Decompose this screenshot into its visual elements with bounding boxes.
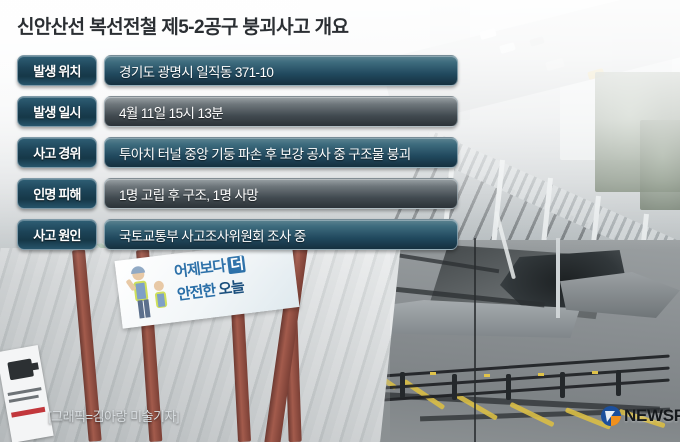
table-row: 발생 일시 4월 11일 15시 13분 [0, 96, 680, 137]
row-value-box: 투아치 터널 중앙 기둥 파손 후 보강 공사 중 구조물 붕괴 [104, 137, 458, 168]
table-row: 인명 피해 1명 고립 후 구조, 1명 사망 [0, 178, 680, 219]
worker-illustration [123, 260, 175, 321]
cctv-camera-icon [7, 358, 34, 380]
row-label-box: 인명 피해 [17, 178, 97, 209]
row-label: 인명 피해 [33, 184, 80, 203]
newspim-mark-icon [601, 406, 621, 426]
row-value: 투아치 터널 중앙 기둥 파손 후 보강 공사 중 구조물 붕괴 [105, 143, 411, 163]
guardrail-post [506, 374, 511, 400]
row-label-box: 사고 경위 [17, 137, 97, 168]
row-label: 사고 원인 [33, 225, 80, 244]
newspim-wordmark: NEWSPIM [624, 406, 680, 426]
guardrail-reflector [538, 373, 544, 376]
table-row: 사고 원인 국토교통부 사고조사위원회 조사 중 [0, 219, 680, 260]
row-value: 4월 11일 15시 13분 [105, 102, 223, 122]
guardrail-post [560, 372, 565, 398]
row-value-box: 4월 11일 15시 13분 [104, 96, 458, 127]
guardrail-post [400, 372, 405, 398]
row-label-box: 발생 일시 [17, 96, 97, 127]
sign-text-highlight [11, 407, 45, 418]
guardrail-reflector [430, 372, 436, 375]
table-row: 발생 위치 경기도 광명시 일직동 371-10 [0, 55, 680, 96]
summary-table: 발생 위치 경기도 광명시 일직동 371-10 발생 일시 4월 11일 15… [0, 55, 680, 260]
guardrail-reflector [484, 374, 490, 377]
guardrail-reflector [592, 371, 598, 374]
row-value: 국토교통부 사고조사위원회 조사 중 [105, 225, 306, 245]
guardrail-post [616, 370, 621, 396]
sign-text-line [9, 395, 39, 403]
table-row: 사고 경위 투아치 터널 중앙 기둥 파손 후 보강 공사 중 구조물 붕괴 [0, 137, 680, 178]
graphic-credit: [그래픽=김아랑 미술기자] [48, 406, 179, 425]
row-value: 경기도 광명시 일직동 371-10 [105, 61, 273, 81]
row-label: 발생 일시 [33, 102, 80, 121]
infographic-root: 어제보다 더 안전한 오늘 신안산선 복선전철 제5-2공구 붕괴사고 개요 발… [0, 0, 680, 442]
page-title: 신안산선 복선전철 제5-2공구 붕괴사고 개요 [17, 12, 348, 39]
row-value-box: 국토교통부 사고조사위원회 조사 중 [104, 219, 458, 250]
row-value: 1명 고립 후 구조, 1명 사망 [105, 184, 258, 204]
row-label-box: 발생 위치 [17, 55, 97, 86]
newspim-logo: NEWSPIM [601, 406, 680, 426]
row-label: 사고 경위 [33, 143, 80, 162]
row-label: 발생 위치 [33, 61, 80, 80]
row-label-box: 사고 원인 [17, 219, 97, 250]
row-value-box: 경기도 광명시 일직동 371-10 [104, 55, 458, 86]
guardrail-post [452, 374, 457, 400]
row-value-box: 1명 고립 후 구조, 1명 사망 [104, 178, 458, 209]
overhead-cable [474, 238, 476, 442]
